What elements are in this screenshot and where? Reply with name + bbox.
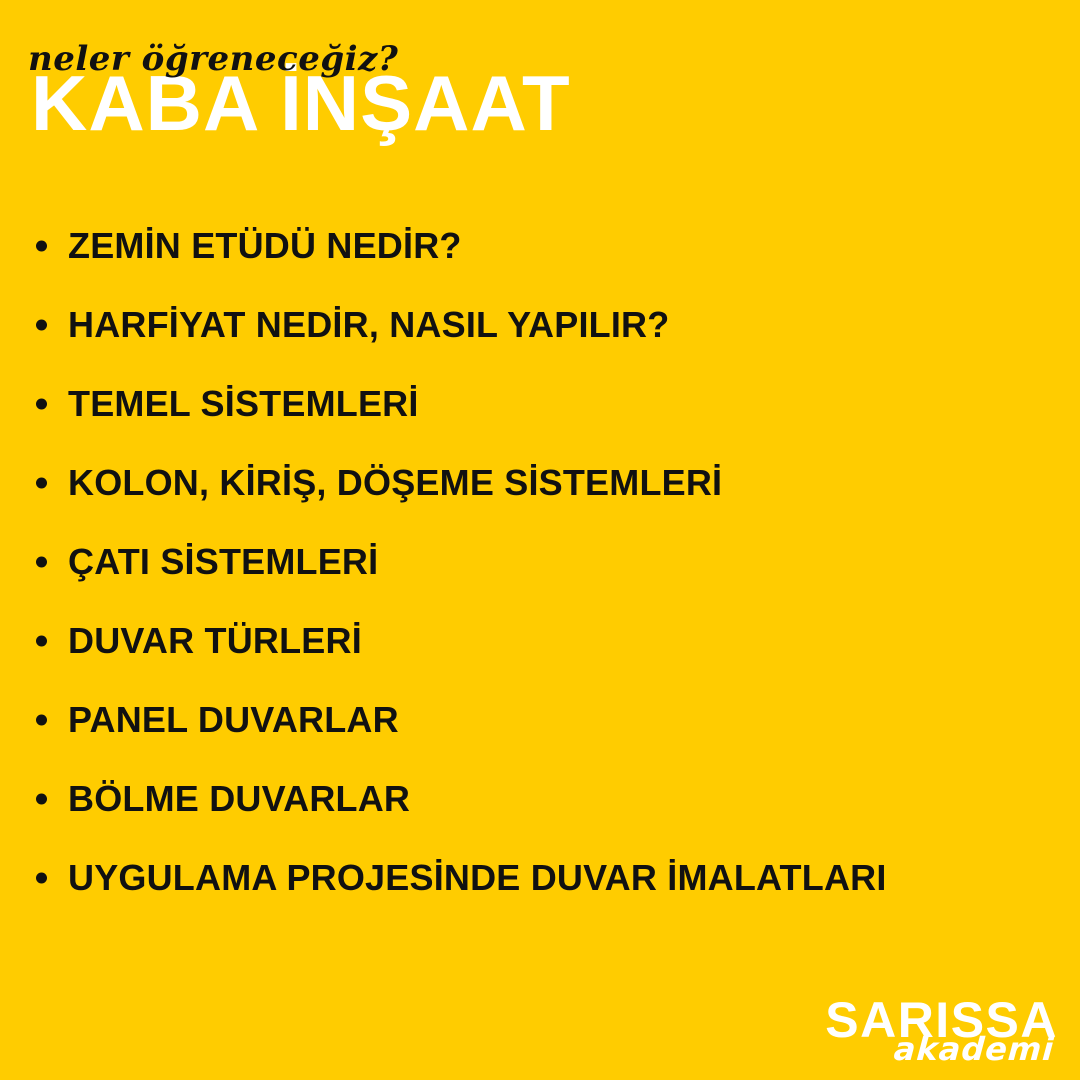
bullet-icon: [36, 240, 47, 251]
list-item-label: ÇATI SİSTEMLERİ: [68, 542, 378, 582]
list-item: TEMEL SİSTEMLERİ: [0, 364, 1080, 443]
list-item: PANEL DUVARLAR: [0, 680, 1080, 759]
list-item: KOLON, KİRİŞ, DÖŞEME SİSTEMLERİ: [0, 443, 1080, 522]
list-item-label: TEMEL SİSTEMLERİ: [68, 384, 419, 424]
list-item-label: HARFİYAT NEDİR, NASIL YAPILIR?: [68, 305, 669, 345]
bullet-icon: [36, 398, 47, 409]
list-item-label: ZEMİN ETÜDÜ NEDİR?: [68, 226, 462, 266]
list-item: HARFİYAT NEDİR, NASIL YAPILIR?: [0, 285, 1080, 364]
bullet-icon: [36, 477, 47, 488]
bullet-icon: [36, 793, 47, 804]
list-item: DUVAR TÜRLERİ: [0, 601, 1080, 680]
poster-header: neler öğreneceğiz? KABA İNŞAAT: [0, 0, 1080, 165]
bullet-icon: [36, 714, 47, 725]
list-item-label: PANEL DUVARLAR: [68, 700, 399, 740]
list-item: UYGULAMA PROJESİNDE DUVAR İMALATLARI: [0, 838, 1080, 917]
logo-subtitle: akademi: [892, 1032, 1055, 1066]
bullet-icon: [36, 635, 47, 646]
bullet-icon: [36, 556, 47, 567]
list-item-label: DUVAR TÜRLERİ: [68, 621, 362, 661]
poster-canvas: neler öğreneceğiz? KABA İNŞAAT ZEMİN ETÜ…: [0, 0, 1080, 1080]
list-item-label: UYGULAMA PROJESİNDE DUVAR İMALATLARI: [68, 858, 887, 898]
list-item: ZEMİN ETÜDÜ NEDİR?: [0, 206, 1080, 285]
brand-logo: SARISSA akademi: [808, 988, 1058, 1080]
list-item: BÖLME DUVARLAR: [0, 759, 1080, 838]
list-item: ÇATI SİSTEMLERİ: [0, 522, 1080, 601]
topic-list: ZEMİN ETÜDÜ NEDİR? HARFİYAT NEDİR, NASIL…: [0, 206, 1080, 917]
list-item-label: BÖLME DUVARLAR: [68, 779, 410, 819]
bullet-icon: [36, 319, 47, 330]
list-item-label: KOLON, KİRİŞ, DÖŞEME SİSTEMLERİ: [68, 463, 722, 503]
header-eyebrow: neler öğreneceğiz?: [28, 40, 398, 78]
bullet-icon: [36, 872, 47, 883]
